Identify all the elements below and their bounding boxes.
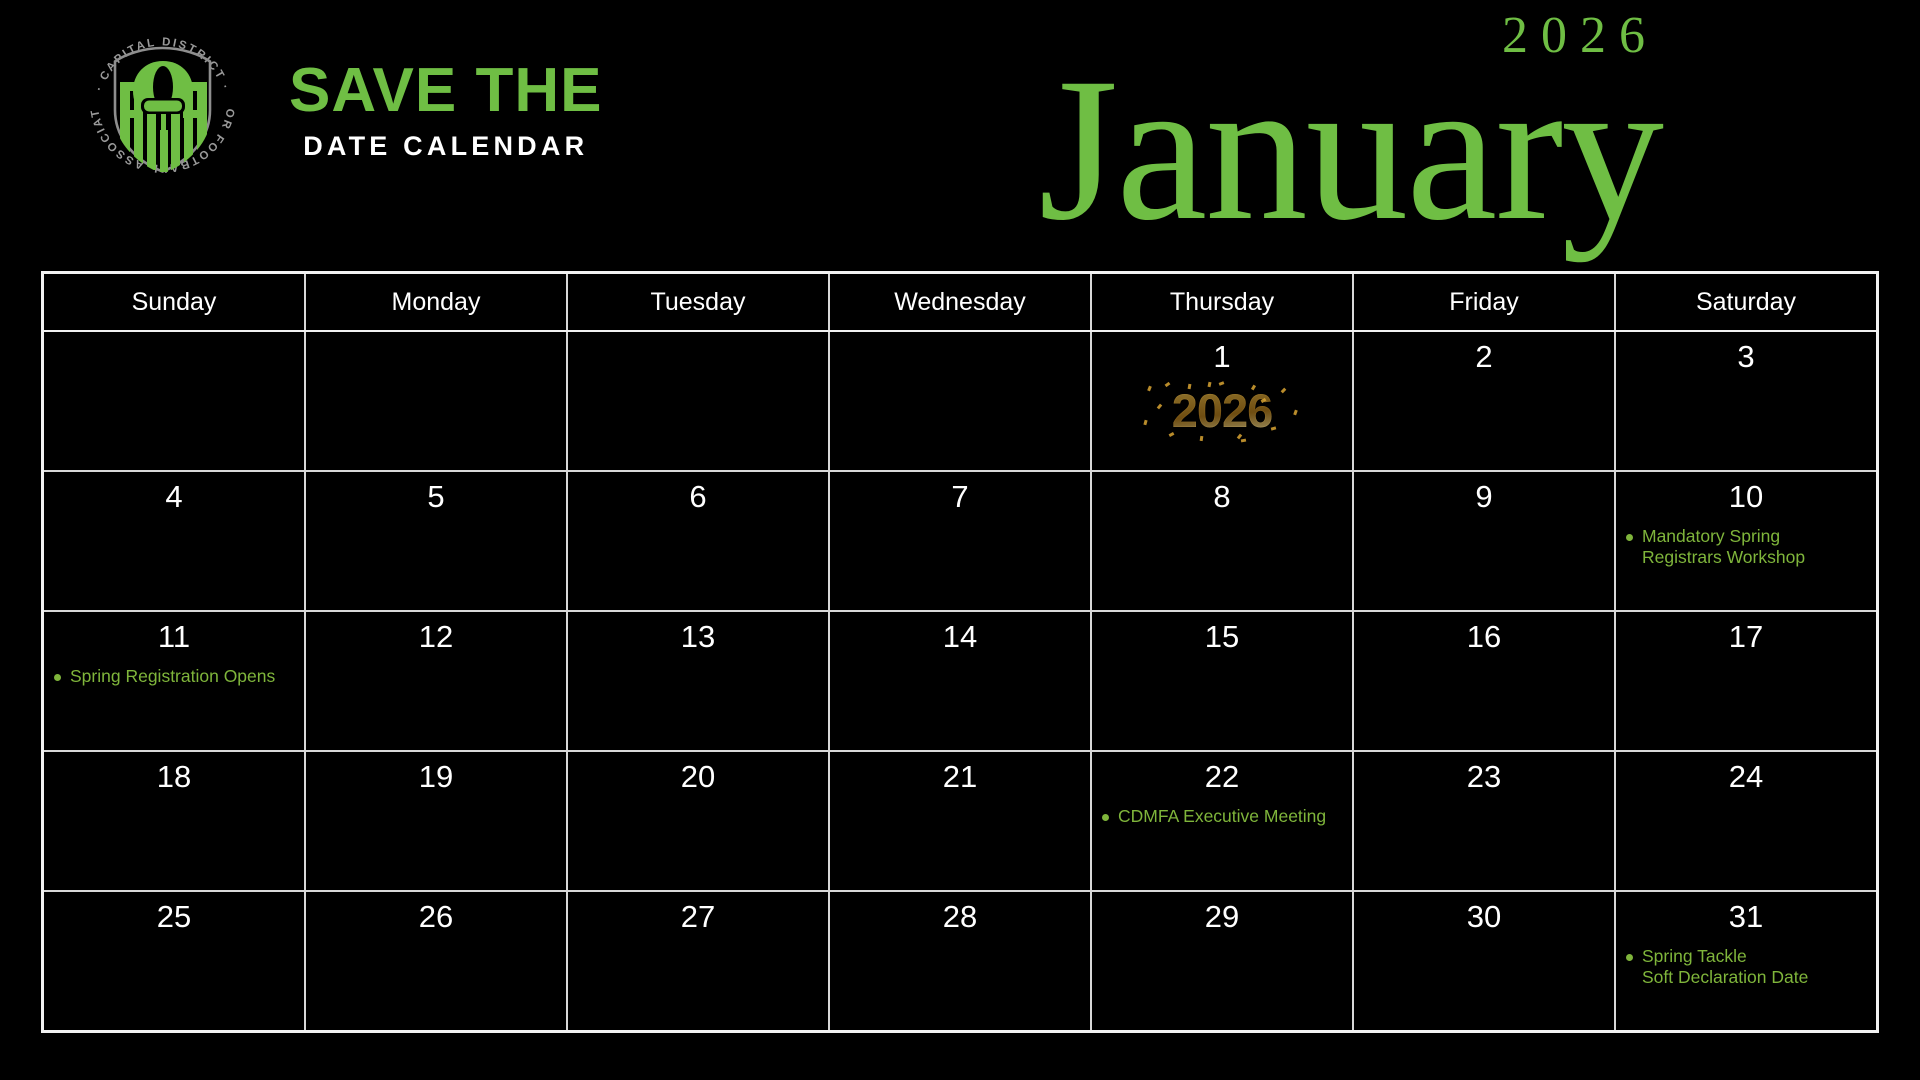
event-item[interactable]: Spring Registration Opens	[54, 666, 294, 687]
cdmfa-logo: · CAPITAL DISTRICT · · MINOR FOOTBALL AS…	[80, 26, 245, 191]
day-cell-23[interactable]: 23	[1354, 752, 1616, 890]
day-number: 12	[316, 620, 556, 658]
day-cell-14[interactable]: 14	[830, 612, 1092, 750]
save-the-date-calendar-page: · CAPITAL DISTRICT · · MINOR FOOTBALL AS…	[0, 0, 1920, 1080]
day-cell-3[interactable]: 3	[1616, 332, 1876, 470]
month-label: January	[842, 70, 1662, 230]
bullet-icon	[54, 674, 61, 681]
day-cell-empty	[568, 332, 830, 470]
save-the-text: SAVE THE	[289, 61, 602, 122]
day-number: 11	[54, 620, 294, 658]
day-number: 3	[1626, 340, 1866, 378]
day-number: 22	[1102, 760, 1342, 798]
day-number: 13	[578, 620, 818, 658]
day-number: 28	[840, 900, 1080, 938]
bullet-icon	[1102, 814, 1109, 821]
weekday-header-row: SundayMondayTuesdayWednesdayThursdayFrid…	[44, 274, 1876, 332]
day-cell-19[interactable]: 19	[306, 752, 568, 890]
day-number: 31	[1626, 900, 1866, 938]
bullet-icon	[1626, 954, 1633, 961]
day-cell-18[interactable]: 18	[44, 752, 306, 890]
event-item[interactable]: CDMFA Executive Meeting	[1102, 806, 1342, 827]
day-number: 21	[840, 760, 1080, 798]
event-list: Spring Registration Opens	[54, 666, 294, 687]
day-number: 15	[1102, 620, 1342, 658]
day-cell-7[interactable]: 7	[830, 472, 1092, 610]
weekday-header-tuesday: Tuesday	[568, 274, 830, 330]
day-cell-20[interactable]: 20	[568, 752, 830, 890]
event-label: CDMFA Executive Meeting	[1118, 806, 1326, 827]
day-cell-9[interactable]: 9	[1354, 472, 1616, 610]
day-number: 24	[1626, 760, 1866, 798]
day-number: 5	[316, 480, 556, 518]
day-cell-27[interactable]: 27	[568, 892, 830, 1030]
day-number: 1	[1102, 340, 1342, 378]
day-cell-28[interactable]: 28	[830, 892, 1092, 1030]
calendar-week-row: 25262728293031Spring Tackle Soft Declara…	[44, 892, 1876, 1030]
day-cell-11[interactable]: 11Spring Registration Opens	[44, 612, 306, 750]
day-number: 4	[54, 480, 294, 518]
event-label: Spring Registration Opens	[70, 666, 275, 687]
gold-2026-label: 2026	[1142, 380, 1302, 442]
day-cell-31[interactable]: 31Spring Tackle Soft Declaration Date	[1616, 892, 1876, 1030]
day-number: 6	[578, 480, 818, 518]
weekday-header-saturday: Saturday	[1616, 274, 1876, 330]
day-cell-22[interactable]: 22CDMFA Executive Meeting	[1092, 752, 1354, 890]
event-list: Spring Tackle Soft Declaration Date	[1626, 946, 1866, 989]
event-list: Mandatory Spring Registrars Workshop	[1626, 526, 1866, 569]
bullet-icon	[1626, 534, 1633, 541]
day-cell-29[interactable]: 29	[1092, 892, 1354, 1030]
calendar-week-row: 45678910Mandatory Spring Registrars Work…	[44, 472, 1876, 612]
calendar-weeks: 120262345678910Mandatory Spring Registra…	[44, 332, 1876, 1030]
day-cell-24[interactable]: 24	[1616, 752, 1876, 890]
day-number: 7	[840, 480, 1080, 518]
day-number: 23	[1364, 760, 1604, 798]
day-number: 14	[840, 620, 1080, 658]
event-label: Mandatory Spring Registrars Workshop	[1642, 526, 1805, 569]
weekday-header-friday: Friday	[1354, 274, 1616, 330]
day-cell-26[interactable]: 26	[306, 892, 568, 1030]
day-number: 30	[1364, 900, 1604, 938]
weekday-header-wednesday: Wednesday	[830, 274, 1092, 330]
day-cell-25[interactable]: 25	[44, 892, 306, 1030]
page-header: · CAPITAL DISTRICT · · MINOR FOOTBALL AS…	[0, 0, 1920, 268]
day-cell-8[interactable]: 8	[1092, 472, 1354, 610]
calendar-grid: SundayMondayTuesdayWednesdayThursdayFrid…	[41, 271, 1879, 1033]
day-cell-16[interactable]: 16	[1354, 612, 1616, 750]
day-cell-17[interactable]: 17	[1616, 612, 1876, 750]
event-label: Spring Tackle Soft Declaration Date	[1642, 946, 1808, 989]
event-item[interactable]: Spring Tackle Soft Declaration Date	[1626, 946, 1866, 989]
weekday-header-sunday: Sunday	[44, 274, 306, 330]
day-number: 26	[316, 900, 556, 938]
day-number: 2	[1364, 340, 1604, 378]
day-number: 8	[1102, 480, 1342, 518]
day-cell-30[interactable]: 30	[1354, 892, 1616, 1030]
day-number: 29	[1102, 900, 1342, 938]
weekday-header-thursday: Thursday	[1092, 274, 1354, 330]
day-number: 19	[316, 760, 556, 798]
day-cell-15[interactable]: 15	[1092, 612, 1354, 750]
calendar-week-row: 1819202122CDMFA Executive Meeting2324	[44, 752, 1876, 892]
day-number: 18	[54, 760, 294, 798]
day-cell-2[interactable]: 2	[1354, 332, 1616, 470]
day-cell-12[interactable]: 12	[306, 612, 568, 750]
new-year-2026-balloon-graphic: 2026	[1142, 380, 1302, 442]
day-number: 25	[54, 900, 294, 938]
day-cell-13[interactable]: 13	[568, 612, 830, 750]
day-cell-4[interactable]: 4	[44, 472, 306, 610]
day-cell-empty	[306, 332, 568, 470]
date-calendar-text: DATE CALENDAR	[303, 131, 588, 162]
day-cell-empty	[830, 332, 1092, 470]
day-number: 10	[1626, 480, 1866, 518]
day-number: 27	[578, 900, 818, 938]
day-cell-1[interactable]: 12026	[1092, 332, 1354, 470]
day-number: 9	[1364, 480, 1604, 518]
save-the-date-heading: SAVE THE DATE CALENDAR	[289, 55, 602, 162]
day-cell-10[interactable]: 10Mandatory Spring Registrars Workshop	[1616, 472, 1876, 610]
day-cell-empty	[44, 332, 306, 470]
calendar-week-row: 1202623	[44, 332, 1876, 472]
weekday-header-monday: Monday	[306, 274, 568, 330]
day-cell-21[interactable]: 21	[830, 752, 1092, 890]
day-number: 20	[578, 760, 818, 798]
event-list: CDMFA Executive Meeting	[1102, 806, 1342, 827]
event-item[interactable]: Mandatory Spring Registrars Workshop	[1626, 526, 1866, 569]
calendar-week-row: 11Spring Registration Opens121314151617	[44, 612, 1876, 752]
brand-block: · CAPITAL DISTRICT · · MINOR FOOTBALL AS…	[80, 26, 602, 191]
day-cell-6[interactable]: 6	[568, 472, 830, 610]
day-number: 17	[1626, 620, 1866, 658]
month-title-block: 2026 January	[842, 10, 1662, 230]
day-cell-5[interactable]: 5	[306, 472, 568, 610]
day-number: 16	[1364, 620, 1604, 658]
